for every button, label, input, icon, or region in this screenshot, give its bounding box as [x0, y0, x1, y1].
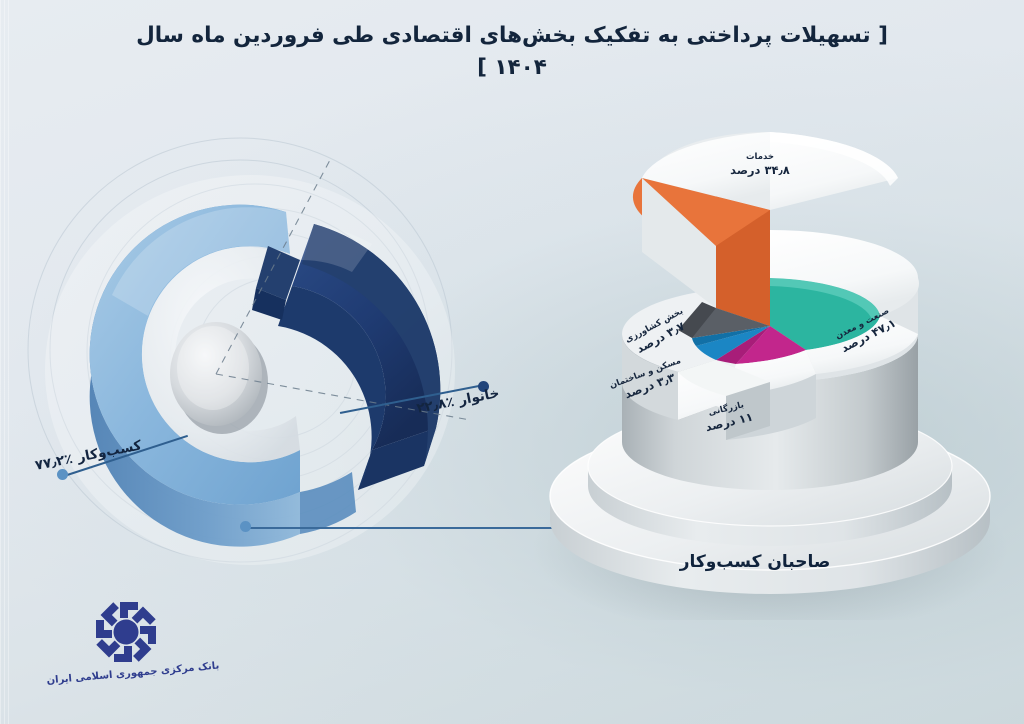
- infographic-canvas: [ تسهیلات پرداختی به تفکیک بخش‌های اقتصا…: [0, 0, 1024, 724]
- page-title: [ تسهیلات پرداختی به تفکیک بخش‌های اقتصا…: [0, 20, 1024, 85]
- business-sector-pie-chart: خدمات ۳۴٫۸ درصد صنعت و معدن ۴۷٫۱ درصد با…: [520, 120, 1024, 620]
- slice-label-services: خدمات ۳۴٫۸ درصد: [700, 152, 820, 178]
- page-title-text: [ تسهیلات پرداختی به تفکیک بخش‌های اقتصا…: [132, 20, 892, 85]
- central-bank-logo: بانک مرکزی جمهوری اسلامی ایران: [38, 598, 228, 702]
- slice-label-services-value: ۳۴٫۸ درصد: [700, 163, 820, 178]
- pedestal-svg: [520, 120, 1024, 620]
- bank-logo-icon: [66, 598, 186, 670]
- business-callout-dot: [57, 469, 68, 480]
- pedestal-caption: صاحبان کسب‌وکار: [595, 552, 915, 572]
- connector-dot-left: [240, 521, 251, 532]
- slice-label-services-name: خدمات: [700, 152, 820, 163]
